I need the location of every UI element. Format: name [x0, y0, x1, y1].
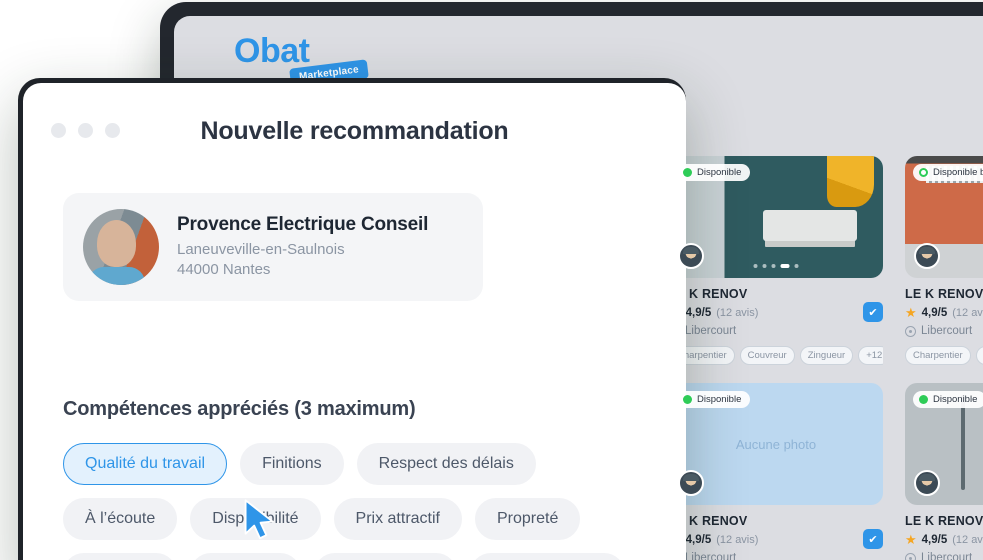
location-label: Libercourt	[921, 325, 972, 337]
availability-badge: Disponible	[913, 391, 983, 408]
availability-badge: Disponible	[677, 164, 750, 181]
skill-chip[interactable]: Qualité du travail	[63, 443, 227, 485]
carousel-dot[interactable]	[781, 264, 790, 268]
verified-badge-icon[interactable]: ✔	[863, 302, 883, 322]
location-pin-icon	[905, 326, 916, 337]
carousel-dot[interactable]	[772, 264, 776, 268]
availability-label: Disponible	[933, 394, 977, 405]
availability-dot-icon	[683, 168, 692, 177]
skill-chip[interactable]: Finitions	[240, 443, 344, 485]
star-icon: ★	[905, 533, 917, 546]
card-location: Libercourt	[905, 325, 983, 337]
company-profile-text: Provence Electrique Conseil Laneuveville…	[177, 214, 428, 281]
availability-dot-icon	[683, 395, 692, 404]
skill-chip[interactable]: Propreté	[475, 498, 580, 540]
marketplace-card[interactable]: DisponibleAucune photoLE K RENOV★4,9/5(1…	[669, 383, 883, 560]
availability-badge: Disponible bientôt	[913, 164, 983, 181]
card-avatar	[678, 243, 704, 269]
card-rating: ★4,9/5(12 avis)✔	[669, 533, 883, 546]
card-tag[interactable]: Couvreur	[976, 346, 983, 365]
brand-wordmark: Obat	[234, 34, 309, 68]
rating-value: 4,9/5	[922, 534, 948, 546]
card-avatar	[678, 470, 704, 496]
location-label: Libercourt	[685, 325, 736, 337]
location-label: Libercourt	[921, 552, 972, 560]
availability-label: Disponible	[697, 167, 741, 178]
card-photo[interactable]: DisponibleAucune photo	[669, 383, 883, 505]
company-address-line-2: 44000 Nantes	[177, 260, 428, 280]
carousel-dot[interactable]	[763, 264, 767, 268]
rating-value: 4,9/5	[686, 534, 712, 546]
marketplace-card-grid: DisponibleLE K RENOV★4,9/5(12 avis)✔Libe…	[669, 156, 983, 560]
skill-chip[interactable]: Réactivité	[63, 553, 177, 560]
photo-carousel-dots[interactable]	[754, 264, 799, 268]
avatar	[83, 209, 159, 285]
recommendation-modal-frame: Nouvelle recommandation Provence Electri…	[18, 78, 686, 560]
card-avatar	[914, 243, 940, 269]
skill-chip[interactable]: À l’écoute	[63, 498, 177, 540]
card-location: Libercourt	[669, 552, 883, 560]
rating-value: 4,9/5	[922, 307, 948, 319]
review-count: (12 avis)	[952, 534, 983, 546]
card-photo[interactable]: Disponible	[905, 383, 983, 505]
marketplace-card[interactable]: Disponible bientôtLE K RENOV★4,9/5(12 av…	[905, 156, 983, 365]
card-rating: ★4,9/5(12 avis)	[905, 533, 983, 546]
availability-badge: Disponible	[677, 391, 750, 408]
page-title: Nouvelle recommandation	[23, 117, 686, 146]
card-avatar	[914, 470, 940, 496]
card-title: LE K RENOV	[669, 514, 883, 528]
availability-label: Disponible	[697, 394, 741, 405]
skill-chip[interactable]: Respect des délais	[357, 443, 536, 485]
skills-section-title: Compétences appréciés (3 maximum)	[63, 398, 415, 421]
company-address-line-1: Laneuveville-en-Saulnois	[177, 240, 428, 260]
location-label: Libercourt	[685, 552, 736, 560]
card-tag[interactable]: Couvreur	[740, 346, 795, 365]
card-tag[interactable]: Zingueur	[800, 346, 854, 365]
card-location: Libercourt	[669, 325, 883, 337]
card-tag[interactable]: +12	[858, 346, 883, 365]
carousel-dot[interactable]	[754, 264, 758, 268]
card-location: Libercourt	[905, 552, 983, 560]
availability-dot-icon	[919, 168, 928, 177]
review-count: (12 avis)	[716, 307, 758, 319]
card-title: LE K RENOV	[905, 287, 983, 301]
carousel-dot[interactable]	[795, 264, 799, 268]
availability-dot-icon	[919, 395, 928, 404]
verified-badge-icon[interactable]: ✔	[863, 529, 883, 549]
card-photo[interactable]: Disponible bientôt	[905, 156, 983, 278]
recommendation-modal: Nouvelle recommandation Provence Electri…	[23, 83, 686, 560]
skill-chip[interactable]: Prix attractif	[334, 498, 462, 540]
rating-value: 4,9/5	[686, 307, 712, 319]
card-tag-list: CharpentierCouvreur	[905, 346, 983, 365]
company-profile-card: Provence Electrique Conseil Laneuveville…	[63, 193, 483, 301]
card-title: LE K RENOV	[905, 514, 983, 528]
skill-chip[interactable]: Flexibilité	[190, 553, 301, 560]
card-rating: ★4,9/5(12 avis)✔	[669, 306, 883, 319]
availability-label: Disponible bientôt	[933, 167, 983, 178]
review-count: (12 avis)	[952, 307, 983, 319]
marketplace-card[interactable]: DisponibleLE K RENOV★4,9/5(12 avis)✔Libe…	[669, 156, 883, 365]
card-rating: ★4,9/5(12 avis)	[905, 306, 983, 319]
card-tag-list: CharpentierCouvreurZingueur+12	[669, 346, 883, 365]
skill-chip-group: Qualité du travailFinitionsRespect des d…	[63, 443, 663, 560]
review-count: (12 avis)	[716, 534, 758, 546]
location-pin-icon	[905, 553, 916, 560]
skill-chip[interactable]: Communication	[470, 553, 625, 560]
marketplace-card[interactable]: DisponibleLE K RENOV★4,9/5(12 avis)Liber…	[905, 383, 983, 560]
card-tag[interactable]: Charpentier	[905, 346, 971, 365]
card-title: LE K RENOV	[669, 287, 883, 301]
mouse-cursor-icon	[241, 498, 287, 544]
company-name: Provence Electrique Conseil	[177, 214, 428, 236]
skill-chip[interactable]: Travail soigné	[314, 553, 457, 560]
star-icon: ★	[905, 306, 917, 319]
card-photo[interactable]: Disponible	[669, 156, 883, 278]
